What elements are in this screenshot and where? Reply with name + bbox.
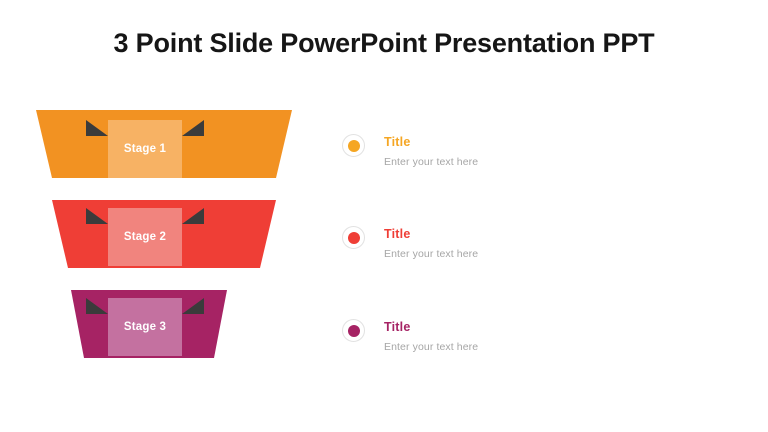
funnel-diagram: Stage 1 Stage 2 — [0, 0, 330, 432]
bullet-dot-icon — [348, 140, 360, 152]
funnel-stage-3-card[interactable]: Stage 3 — [108, 298, 182, 356]
point-body-3[interactable]: Enter your text here — [384, 341, 478, 353]
ribbon-fold-left-icon — [86, 208, 108, 224]
funnel-stage-2-label: Stage 2 — [124, 231, 166, 243]
bullet-dot-icon — [348, 232, 360, 244]
points-list: Title Enter your text here Title Enter y… — [338, 0, 758, 432]
funnel-stage-1[interactable]: Stage 1 — [0, 110, 330, 178]
funnel-stage-2-card[interactable]: Stage 2 — [108, 208, 182, 266]
bullet-dot-icon — [348, 325, 360, 337]
point-item-1[interactable]: Title Enter your text here — [338, 126, 738, 182]
point-item-3[interactable]: Title Enter your text here — [338, 311, 738, 367]
slide-canvas: 3 Point Slide PowerPoint Presentation PP… — [0, 0, 768, 432]
ribbon-fold-right-icon — [182, 208, 204, 224]
ribbon-fold-left-icon — [86, 298, 108, 314]
funnel-stage-3-label: Stage 3 — [124, 321, 166, 333]
funnel-stage-1-card[interactable]: Stage 1 — [108, 120, 182, 178]
point-title-1: Title — [384, 135, 410, 149]
ribbon-fold-left-icon — [86, 120, 108, 136]
funnel-stage-2[interactable]: Stage 2 — [0, 200, 330, 268]
point-item-2[interactable]: Title Enter your text here — [338, 218, 738, 274]
bullet-circle-icon — [342, 226, 365, 249]
ribbon-fold-right-icon — [182, 298, 204, 314]
point-title-2: Title — [384, 227, 410, 241]
funnel-stage-3[interactable]: Stage 3 — [0, 290, 330, 358]
point-title-3: Title — [384, 320, 410, 334]
ribbon-fold-right-icon — [182, 120, 204, 136]
point-body-1[interactable]: Enter your text here — [384, 156, 478, 168]
bullet-circle-icon — [342, 319, 365, 342]
point-body-2[interactable]: Enter your text here — [384, 248, 478, 260]
bullet-circle-icon — [342, 134, 365, 157]
funnel-stage-1-label: Stage 1 — [124, 143, 166, 155]
